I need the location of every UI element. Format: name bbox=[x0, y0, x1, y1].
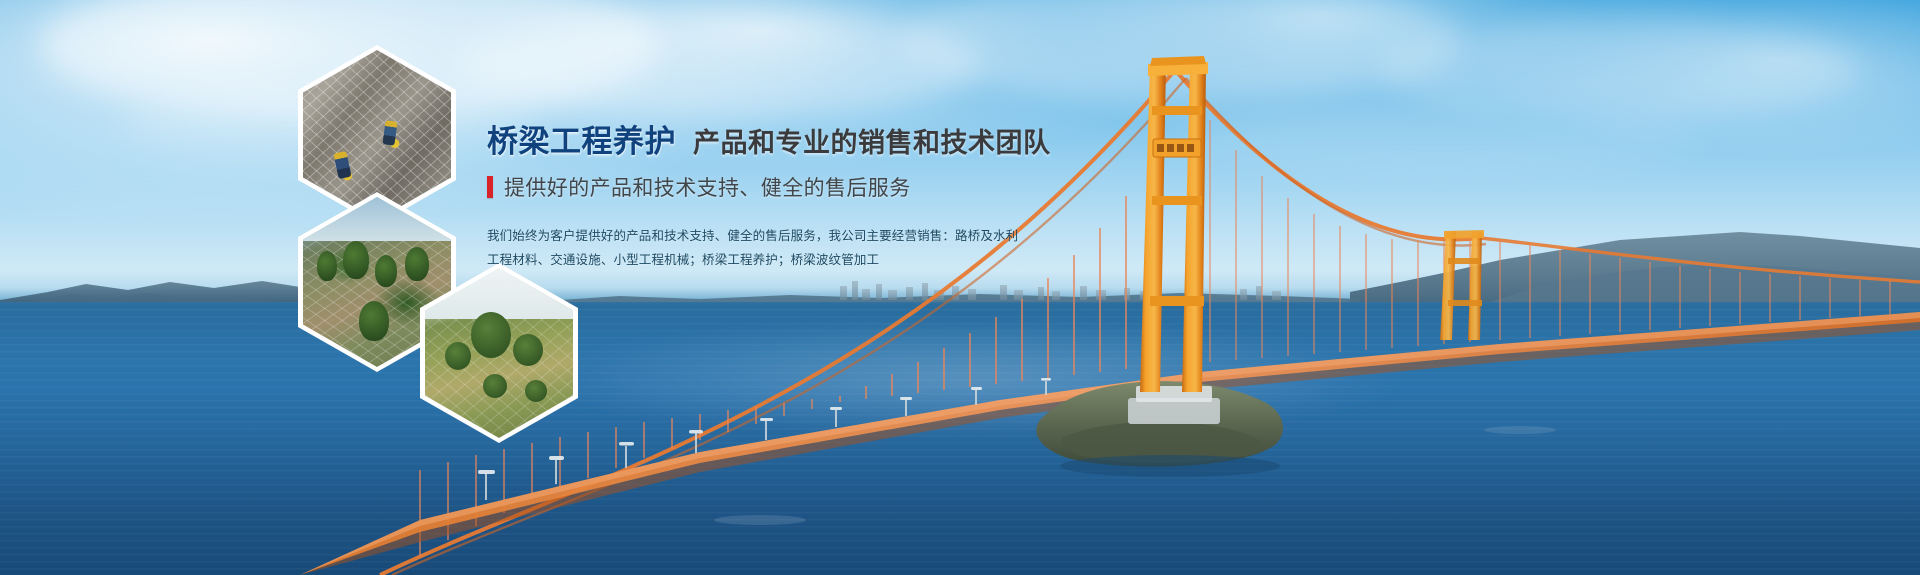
bush-shape bbox=[471, 312, 511, 358]
banner-copy: 桥梁工程养护产品和专业的销售和技术团队 提供好的产品和技术支持、健全的售后服务 … bbox=[487, 126, 1047, 272]
headline: 桥梁工程养护产品和专业的销售和技术团队 bbox=[487, 126, 1047, 159]
tree-shape bbox=[375, 255, 397, 287]
headline-secondary: 产品和专业的销售和技术团队 bbox=[693, 128, 1051, 158]
hero-banner: 桥梁工程养护产品和专业的销售和技术团队 提供好的产品和技术支持、健全的售后服务 … bbox=[0, 0, 1920, 575]
tree-shape bbox=[359, 301, 389, 341]
bush-shape bbox=[513, 334, 543, 366]
tree-shape bbox=[405, 247, 429, 281]
body-paragraph: 我们始终为客户提供好的产品和技术支持、健全的售后服务，我公司主要经营销售：路桥及… bbox=[487, 224, 1047, 273]
body-line-1: 我们始终为客户提供好的产品和技术支持、健全的售后服务，我公司主要经营销售：路桥及… bbox=[487, 224, 1047, 248]
tree-shape bbox=[317, 251, 337, 281]
subtitle-row: 提供好的产品和技术支持、健全的售后服务 bbox=[487, 172, 1047, 202]
accent-bar-icon bbox=[487, 176, 493, 198]
subtitle: 提供好的产品和技术支持、健全的售后服务 bbox=[504, 172, 911, 202]
bush-shape bbox=[445, 342, 471, 370]
tree-shape bbox=[343, 241, 369, 279]
body-line-2: 工程材料、交通设施、小型工程机械；桥梁工程养护；桥梁波纹管加工 bbox=[487, 248, 1047, 272]
worker-figure bbox=[383, 121, 398, 146]
headline-primary: 桥梁工程养护 bbox=[487, 124, 676, 159]
bush-shape bbox=[525, 380, 547, 402]
bush-shape bbox=[483, 374, 507, 398]
sea-glint bbox=[520, 318, 1420, 438]
